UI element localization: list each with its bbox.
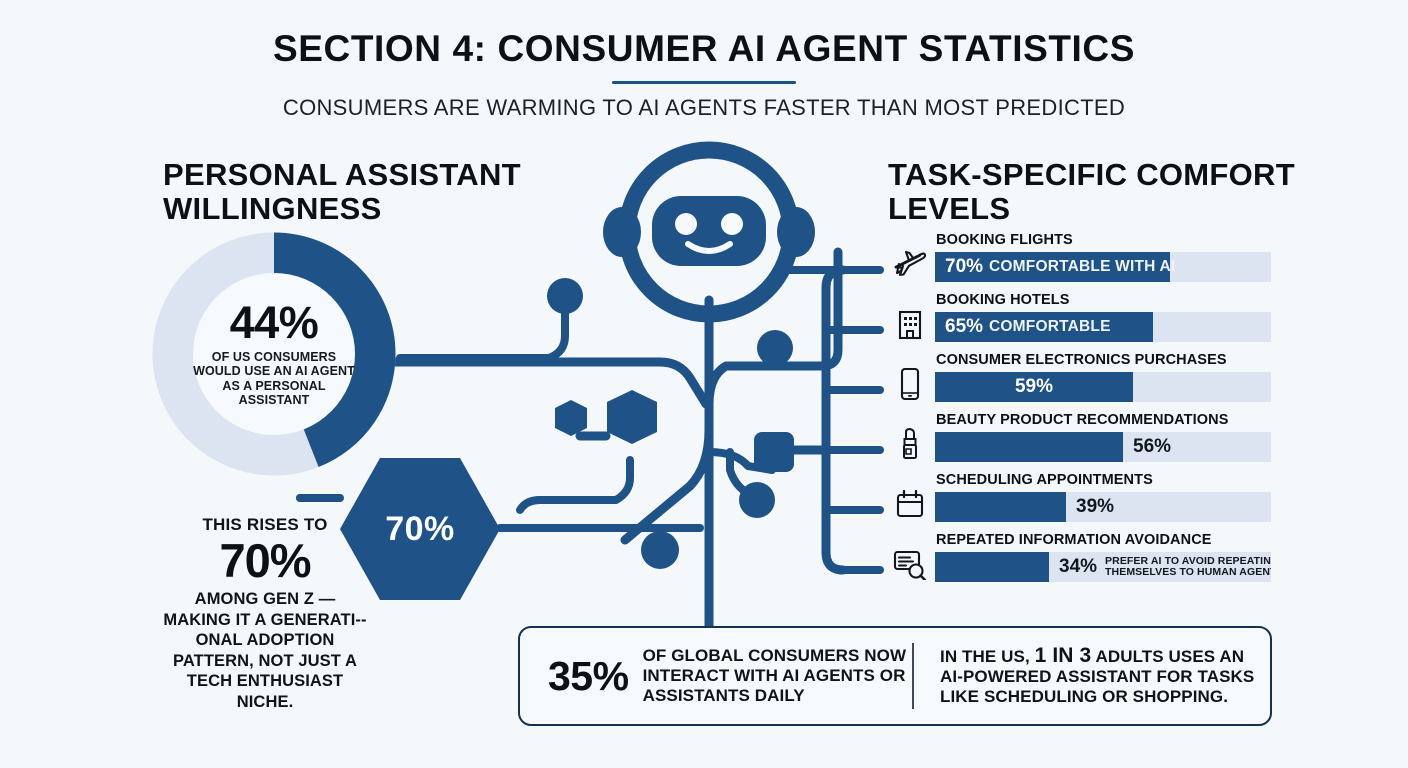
bar-value-group: 59% — [935, 372, 1133, 402]
circuit-node-icon — [641, 531, 679, 569]
bar-annotation: COMFORTABLE WITH AI — [989, 258, 1175, 276]
circuit-hexagon-icon — [607, 390, 657, 444]
left-section-heading: PERSONAL ASSISTANT WILLINGNESS — [163, 158, 583, 226]
hotel-building-icon — [888, 304, 932, 344]
bar-track: 65%COMFORTABLE — [935, 312, 1271, 342]
donut-center-label: 44% OF US CONSUMERS WOULD USE AN AI AGEN… — [193, 273, 355, 435]
bar-row: BOOKING HOTELS65%COMFORTABLE — [884, 292, 1276, 348]
smartphone-icon — [888, 364, 932, 404]
donut-value: 44% — [230, 301, 319, 345]
callout-left: 35% OF GLOBAL CONSUMERS NOW INTERACT WIT… — [520, 646, 912, 706]
circuit-node-icon — [757, 330, 793, 366]
comfort-bar-chart: BOOKING FLIGHTS70%COMFORTABLE WITH AIBOO… — [884, 232, 1276, 590]
bar-label: CONSUMER ELECTRONICS PURCHASES — [936, 352, 1227, 368]
bar-value: 59% — [1015, 376, 1053, 398]
page-title: SECTION 4: CONSUMER AI AGENT STATISTICS — [0, 28, 1408, 70]
bar-row: REPEATED INFORMATION AVOIDANCE34%PREFER … — [884, 532, 1276, 588]
circuit-hexagon-icon — [555, 400, 587, 436]
bar-annotation: PREFER AI TO AVOID REPEATINGTHEMSELVES T… — [1105, 556, 1271, 579]
bar-track: 56% — [935, 432, 1271, 462]
bar-row: SCHEDULING APPOINTMENTS39% — [884, 472, 1276, 528]
bar-row: CONSUMER ELECTRONICS PURCHASES59% — [884, 352, 1276, 408]
infographic-canvas: SECTION 4: CONSUMER AI AGENT STATISTICS … — [0, 0, 1408, 768]
circuit-node-icon — [547, 278, 583, 314]
bar-fill — [935, 432, 1123, 462]
bar-track: 34%PREFER AI TO AVOID REPEATINGTHEMSELVE… — [935, 552, 1271, 582]
gen-z-callout: THIS RISES TO 70% AMONG GEN Z — MAKING I… — [160, 515, 370, 712]
circuit-chip-icon — [754, 432, 794, 472]
bar-label: REPEATED INFORMATION AVOIDANCE — [936, 532, 1212, 548]
gen-z-prefix: THIS RISES TO — [160, 515, 370, 535]
bar-label: BEAUTY PRODUCT RECOMMENDATIONS — [936, 412, 1228, 428]
bar-value-group: 70%COMFORTABLE WITH AI — [945, 252, 1175, 282]
bar-value-group: 39% — [1076, 492, 1114, 522]
donut-caption: OF US CONSUMERS WOULD USE AN AI AGENT AS… — [193, 350, 355, 408]
header: SECTION 4: CONSUMER AI AGENT STATISTICS … — [0, 28, 1408, 121]
bar-annotation-line-2: THEMSELVES TO HUMAN AGENTS — [1105, 566, 1271, 578]
callout-right: IN THE US, 1 IN 3 ADULTS USES AN AI-POWE… — [914, 646, 1266, 707]
robot-head-icon — [603, 150, 815, 314]
bar-track: 70%COMFORTABLE WITH AI — [935, 252, 1271, 282]
page-subtitle: CONSUMERS ARE WARMING TO AI AGENTS FASTE… — [0, 95, 1408, 121]
right-section-heading: TASK-SPECIFIC COMFORT LEVELS — [888, 158, 1308, 226]
bar-value-group: 56% — [1133, 432, 1171, 462]
bar-value-group: 34%PREFER AI TO AVOID REPEATINGTHEMSELVE… — [1059, 552, 1271, 582]
bar-track: 59% — [935, 372, 1271, 402]
bottom-callout: 35% OF GLOBAL CONSUMERS NOW INTERACT WIT… — [518, 626, 1272, 726]
bar-value: 70% — [945, 256, 983, 278]
bar-value: 34% — [1059, 556, 1097, 578]
hexagon-badge-label: 70% — [385, 510, 455, 549]
callout-right-highlight: 1 IN 3 — [1035, 644, 1092, 667]
bar-annotation-line-1: PREFER AI TO AVOID REPEATING — [1105, 555, 1271, 567]
callout-left-text: OF GLOBAL CONSUMERS NOW INTERACT WITH AI… — [643, 646, 912, 706]
bar-row: BEAUTY PRODUCT RECOMMENDATIONS56% — [884, 412, 1276, 468]
gen-z-body: AMONG GEN Z — MAKING IT A GENERATI--ONAL… — [160, 589, 370, 712]
bar-value: 56% — [1133, 436, 1171, 458]
bar-label: BOOKING FLIGHTS — [936, 232, 1073, 248]
bar-value: 39% — [1076, 496, 1114, 518]
donut-chart: 44% OF US CONSUMERS WOULD USE AN AI AGEN… — [152, 232, 396, 476]
calendar-icon — [888, 484, 932, 524]
circuit-node-icon — [739, 482, 775, 518]
callout-right-prefix: IN THE US, — [940, 647, 1035, 666]
callout-right-text: IN THE US, 1 IN 3 ADULTS USES AN AI-POWE… — [940, 646, 1266, 707]
bar-label: SCHEDULING APPOINTMENTS — [936, 472, 1153, 488]
bar-track: 39% — [935, 492, 1271, 522]
bar-value-group: 65%COMFORTABLE — [945, 312, 1111, 342]
bar-value: 65% — [945, 316, 983, 338]
lipstick-icon — [888, 424, 932, 464]
bar-annotation: COMFORTABLE — [989, 318, 1111, 336]
bar-fill — [935, 492, 1066, 522]
callout-left-pct: 35% — [548, 653, 629, 700]
gen-z-value: 70% — [160, 536, 370, 586]
title-divider — [612, 81, 796, 84]
document-search-icon — [888, 544, 932, 584]
bar-fill — [935, 552, 1049, 582]
airplane-icon — [888, 244, 932, 284]
bar-label: BOOKING HOTELS — [936, 292, 1070, 308]
bar-row: BOOKING FLIGHTS70%COMFORTABLE WITH AI — [884, 232, 1276, 288]
